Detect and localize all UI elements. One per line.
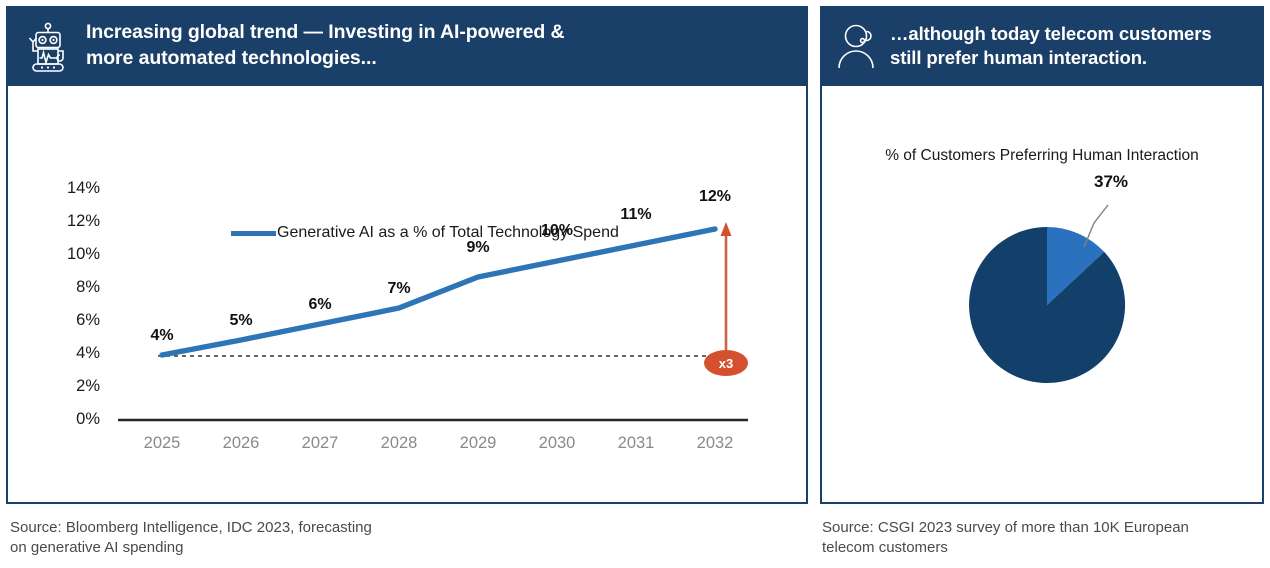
data-label-2028: 7% <box>374 280 424 298</box>
data-label-2025: 4% <box>137 327 187 345</box>
right-panel: …although today telecom customers still … <box>820 6 1264 504</box>
x-tick-2030: 2030 <box>522 434 592 453</box>
x3-badge: x3 <box>704 350 748 376</box>
left-panel-header: Increasing global trend — Investing in A… <box>6 6 808 86</box>
x-tick-2025: 2025 <box>127 434 197 453</box>
x-tick-2029: 2029 <box>443 434 513 453</box>
data-label-2029: 9% <box>453 239 503 257</box>
pie-chart <box>822 86 1262 504</box>
right-panel-title: …although today telecom customers still … <box>890 22 1212 71</box>
x-tick-2032: 2032 <box>680 434 750 453</box>
series-line-generative-ai <box>162 229 715 355</box>
robot-icon <box>20 18 76 74</box>
left-panel: Increasing global trend — Investing in A… <box>6 6 808 504</box>
x-tick-2026: 2026 <box>206 434 276 453</box>
x3-arrow-head <box>721 222 732 236</box>
headset-agent-icon <box>834 21 884 71</box>
data-label-2031: 11% <box>611 206 661 224</box>
x-tick-2028: 2028 <box>364 434 434 453</box>
x-tick-2027: 2027 <box>285 434 355 453</box>
data-label-2032: 12% <box>690 188 740 206</box>
data-label-2030: 10% <box>532 222 582 240</box>
left-panel-title: Increasing global trend — Investing in A… <box>86 20 565 71</box>
right-panel-header: …although today telecom customers still … <box>820 6 1264 86</box>
x-tick-2031: 2031 <box>601 434 671 453</box>
data-label-2026: 5% <box>216 312 266 330</box>
left-panel-body: Generative AI as a % of Total Technology… <box>6 86 808 504</box>
right-panel-body: % of Customers Preferring Human Interact… <box>820 86 1264 504</box>
source-note-right: Source: CSGI 2023 survey of more than 10… <box>822 518 1242 559</box>
data-label-2027: 6% <box>295 296 345 314</box>
line-chart: Generative AI as a % of Total Technology… <box>8 86 806 502</box>
source-note-left: Source: Bloomberg Intelligence, IDC 2023… <box>10 518 510 559</box>
